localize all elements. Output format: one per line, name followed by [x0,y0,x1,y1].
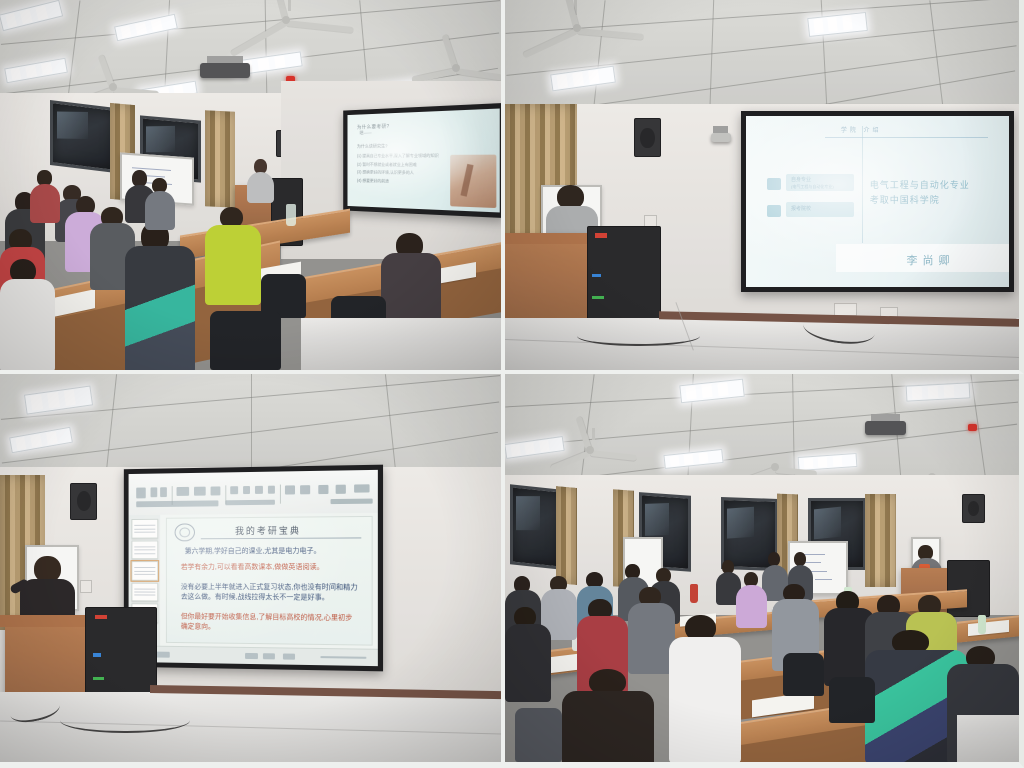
ceiling-fan [546,436,633,463]
slide-paragraph: 但你最好要开始收集信息,了解目标高校的情况,心里初步确定意向。 [181,613,359,635]
smoke-alarm-red-icon [968,424,977,431]
ribbon-icon[interactable] [318,485,328,494]
ribbon-icon[interactable] [286,486,296,495]
slide-paragraph: 没有必要上半年就进入正式复习状态,你也没有时间和精力去这么做。有时候,战线拉得太… [181,583,359,604]
wall-outlet [80,580,92,594]
student [0,259,55,370]
student [145,178,175,230]
collage-panel-top-left[interactable]: 为什么要考研? 嗯—— 为什么读研究生? (1) 提高自己专业水平,深入了解专业… [0,0,505,374]
ppt-ribbon[interactable] [129,470,378,516]
slide-paragraph: 第六学期,学好自己的课业,尤其是电力电子。 [185,546,359,557]
ribbon-icon[interactable] [243,486,250,494]
ribbon-icon[interactable] [231,487,238,495]
ribbon-icon[interactable] [226,500,276,506]
student [669,615,741,762]
ribbon-icon[interactable] [211,487,221,496]
curtain [556,486,577,585]
water-bottle [978,615,986,634]
scene-speaker-and-powerpoint: 我的考研宝典 第六学期,学好自己的课业,尤其是电力电子。 若学有余力,可以看看高… [0,374,501,762]
wall-speaker [634,118,662,157]
slide-content-top-left: 为什么要考研? 嗯—— 为什么读研究生? (1) 提高自己专业水平,深入了解专业… [347,109,500,213]
scene-full-classroom-audience [505,374,1019,762]
fluorescent-light-panel [906,382,970,401]
slide-bullet: (2) 暂时不想就业或者就业上有困难 [357,162,417,168]
ribbon-icon[interactable] [331,498,372,504]
slide-photo [450,155,497,209]
student [562,669,655,768]
ribbon-icon[interactable] [177,487,189,495]
ceiling-projector [865,421,906,435]
ribbon-icon[interactable] [136,500,218,507]
curtain [865,494,896,587]
ribbon-icon[interactable] [150,488,157,497]
ceiling-projector [200,63,250,78]
slide-title: 我的考研宝典 [235,524,301,537]
slide-presenter-name: 李尚卿 [907,252,955,268]
power-cable [60,708,190,733]
ceiling-fan [411,56,501,82]
rack-indicator-green [93,677,104,680]
ribbon-icon[interactable] [336,485,346,494]
window [510,484,562,569]
chair [783,653,824,696]
slide-body-line: 电气工程与自动化专业 [870,178,970,191]
presenter [245,159,275,203]
powerpoint-window[interactable]: 我的考研宝典 第六学期,学好自己的课业,尤其是电力电子。 若学有余力,可以看看高… [129,470,378,666]
ppt-current-slide[interactable]: 我的考研宝典 第六学期,学好自己的课业,尤其是电力电子。 若学有余力,可以看看高… [166,516,373,646]
slide-content-top-right: 学院 介绍 自身专业 (电气工程与自动化专业) 报考院校 电气工程与自动化专业 … [746,116,1008,287]
status-bar-item[interactable] [263,653,276,659]
ppt-thumbnail[interactable] [132,540,158,559]
ribbon-icon[interactable] [160,488,167,497]
slide-question: 为什么读研究生? [357,144,388,150]
student [505,607,551,700]
window [50,100,116,173]
projection-screen[interactable]: 学院 介绍 自身专业 (电气工程与自动化专业) 报考院校 电气工程与自动化专业 … [741,111,1013,292]
student [30,170,60,222]
collage-panel-bottom-left[interactable]: 我的考研宝典 第六学期,学好自己的课业,尤其是电力电子。 若学有余力,可以看看高… [0,374,505,768]
rack-indicator-red [595,233,607,237]
chair [515,708,561,762]
university-seal-icon [175,523,195,541]
projection-screen[interactable]: 我的考研宝典 第六学期,学好自己的课业,尤其是电力电子。 若学有余力,可以看看高… [124,465,383,671]
rack-indicator-red [95,615,107,620]
ribbon-icon[interactable] [136,488,146,499]
slide-paragraph: 若学有余力,可以看看高数课本,做做英语阅读。 [181,563,359,573]
ppt-thumbnail[interactable] [132,561,158,580]
student [205,207,260,303]
ceiling-projector [711,133,732,142]
scene-presenter-and-screen: 学院 介绍 自身专业 (电气工程与自动化专业) 报考院校 电气工程与自动化专业 … [505,0,1019,370]
slide-badge-icon [767,205,780,217]
slide-badge-icon [767,178,780,190]
collage-panel-bottom-right[interactable] [505,374,1024,768]
wall-speaker [962,494,985,523]
curtain [205,110,235,208]
water-bottle [690,584,698,603]
status-bar-item[interactable] [283,653,296,659]
zoom-slider[interactable] [321,656,367,659]
slide-bullet: (4) 想要更好的前途 [357,178,389,184]
floor [957,715,1019,762]
scene-lecture-hall-audience: 为什么要考研? 嗯—— 为什么读研究生? (1) 提高自己专业水平,深入了解专业… [0,0,501,370]
slide-chip-title: 报考院校 [791,205,811,212]
rack-indicator-blue [592,274,600,278]
rack-indicator-green [592,296,603,299]
slide-bullet: (3) 想换更好的环境,认识更多的人 [357,170,414,176]
chair [210,311,280,370]
collage-panel-top-right[interactable]: 学院 介绍 自身专业 (电气工程与自动化专业) 报考院校 电气工程与自动化专业 … [505,0,1024,374]
status-bar-item[interactable] [246,653,258,659]
ribbon-icon[interactable] [301,486,311,495]
slide-body-line: 考取中国科学院 [870,193,940,206]
projection-screen[interactable]: 为什么要考研? 嗯—— 为什么读研究生? (1) 提高自己专业水平,深入了解专业… [343,103,505,219]
ribbon-icon[interactable] [354,485,369,493]
wall-speaker [70,483,97,520]
student [125,222,195,370]
slide-bullet: (1) 提高自己专业水平,深入了解专业领域的知识 [357,153,439,159]
slide-subheading: 嗯—— [359,130,371,136]
ppt-editing-stage[interactable]: 我的考研宝典 第六学期,学好自己的课业,尤其是电力电子。 若学有余力,可以看看高… [160,513,378,650]
floor [505,318,1019,370]
ppt-thumbnail[interactable] [132,519,158,538]
rack-indicator-blue [93,653,101,657]
ppt-thumbnail[interactable] [132,582,158,601]
ceiling-fan [220,4,350,37]
slide-chip-title: 自身专业 [791,176,811,183]
ceiling-fan [515,11,638,44]
photo-collage: 为什么要考研? 嗯—— 为什么读研究生? (1) 提高自己专业水平,深入了解专业… [0,0,1024,768]
ribbon-icon[interactable] [268,486,275,494]
student [628,587,674,672]
ppt-status-bar[interactable] [129,646,378,666]
chair [829,677,875,724]
floor [301,318,501,370]
ribbon-icon[interactable] [255,486,262,494]
ribbon-icon[interactable] [194,487,206,496]
slide-chip-subtitle: (电气工程与自动化专业) [791,184,834,190]
water-bottle [286,204,296,226]
power-cable [577,326,700,347]
